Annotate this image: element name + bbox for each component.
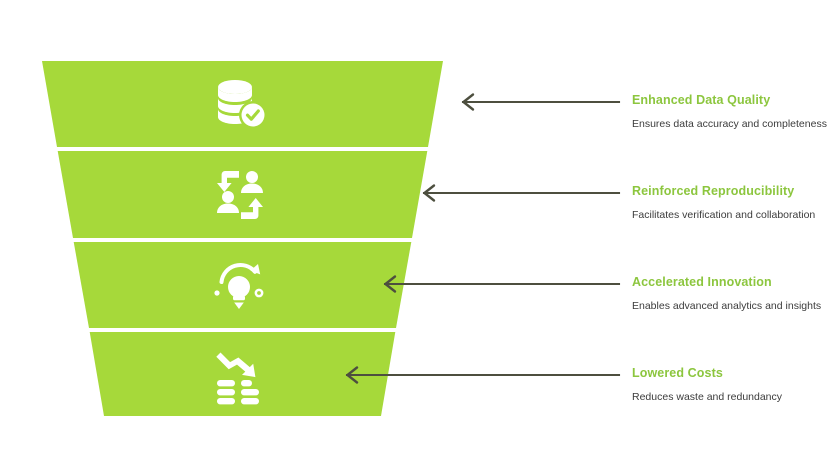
arrow-connector-3 [385,277,619,292]
arrow-connector-2 [424,186,619,201]
callout-title-4: Lowered Costs [632,366,832,381]
callout-title-3: Accelerated Innovation [632,275,832,290]
callout-title-1: Enhanced Data Quality [632,93,832,108]
callout-description-3: Enables advanced analytics and insights [632,299,832,314]
callout-title-2: Reinforced Reproducibility [632,184,832,199]
callout-1: Enhanced Data Quality Ensures data accur… [632,93,832,132]
arrow-connector-1 [463,95,619,110]
callout-3: Accelerated Innovation Enables advanced … [632,275,832,314]
callout-2: Reinforced Reproducibility Facilitates v… [632,184,832,223]
callout-4: Lowered Costs Reduces waste and redundan… [632,366,832,405]
callout-description-2: Facilitates verification and collaborati… [632,208,832,223]
callout-description-4: Reduces waste and redundancy [632,390,832,405]
arrow-connector-4 [347,368,619,383]
callout-description-1: Ensures data accuracy and completeness [632,117,832,132]
funnel-infographic: Enhanced Data Quality Ensures data accur… [0,0,840,460]
